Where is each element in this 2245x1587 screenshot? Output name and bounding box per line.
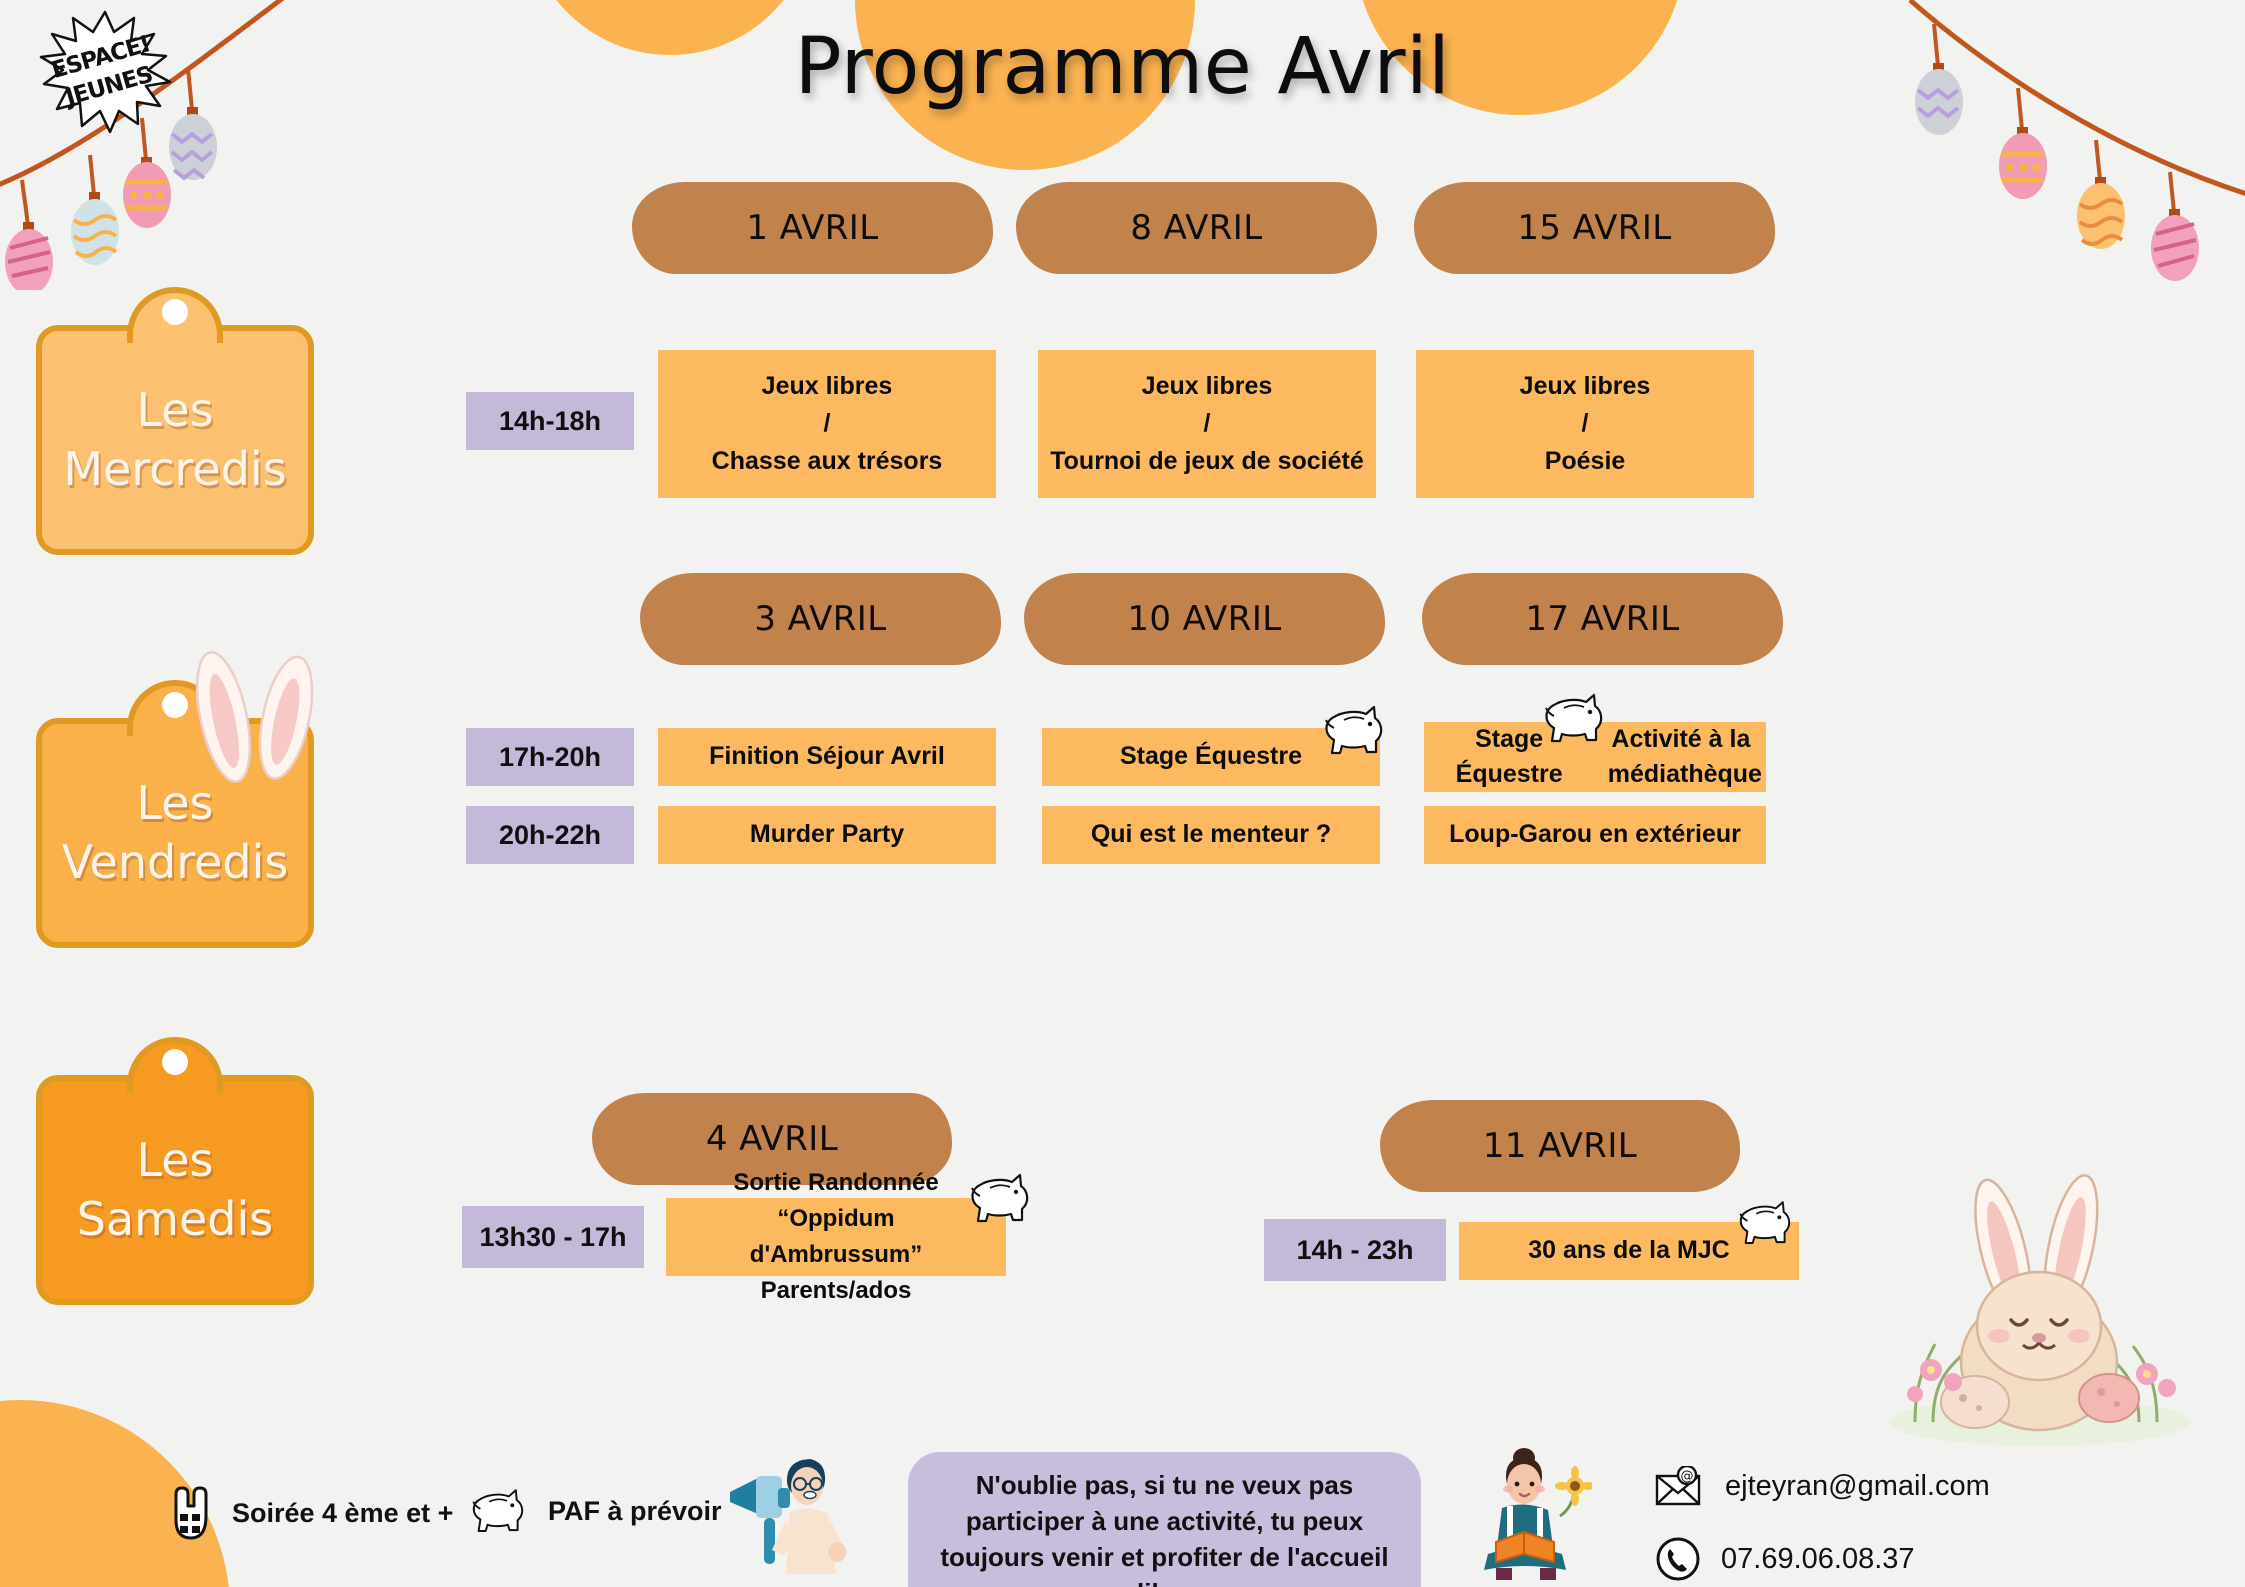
reading-person-illustration-icon xyxy=(1462,1442,1592,1587)
activity-line: Loup-Garou en extérieur xyxy=(1434,816,1756,854)
activity-line: Murder Party xyxy=(668,816,986,854)
piggy-bank-icon xyxy=(1540,688,1610,750)
piggy-bank-icon xyxy=(1320,700,1390,762)
programme-poster: ESPACE! JEUNES Programme Avril Les Mercr… xyxy=(0,0,2245,1587)
bunny-ears-icon xyxy=(178,648,338,788)
day-tag-hole xyxy=(162,1049,188,1075)
contact-email-text: ejteyran@gmail.com xyxy=(1725,1470,1990,1503)
day-label-line2: Vendredis xyxy=(62,835,289,889)
activity-cell-mercredi-8avril[interactable]: Jeux libres / Tournoi de jeux de société xyxy=(1038,350,1376,498)
activity-line: d'Ambrussum” Parents/ados xyxy=(676,1237,996,1309)
date-pill-10-avril[interactable]: 10 AVRIL xyxy=(1024,573,1385,665)
activity-cell-mercredi-15avril[interactable]: Jeux libres / Poésie xyxy=(1416,350,1754,498)
megaphone-person-illustration-icon xyxy=(724,1444,854,1587)
activity-line: Finition Séjour Avril xyxy=(668,738,986,776)
piggy-bank-icon xyxy=(1735,1196,1797,1251)
legend-paf-label: PAF à prévoir xyxy=(548,1496,722,1527)
activity-cell-vendredi-3avril-20h[interactable]: Murder Party xyxy=(658,806,996,864)
activity-cell-vendredi-17avril-20h[interactable]: Loup-Garou en extérieur xyxy=(1424,806,1766,864)
date-pill-17-avril[interactable]: 17 AVRIL xyxy=(1422,573,1783,665)
date-pill-11-avril[interactable]: 11 AVRIL xyxy=(1380,1100,1740,1192)
activity-cell-samedi-4avril[interactable]: Sortie Randonnée “Oppidum d'Ambrussum” P… xyxy=(666,1198,1006,1276)
time-chip-samedi-14h-23h: 14h - 23h xyxy=(1264,1219,1446,1281)
email-icon: @ xyxy=(1655,1466,1705,1506)
rock-hand-icon xyxy=(168,1484,214,1542)
day-tag-samedis: Les Samedis xyxy=(36,1075,314,1305)
legend-paf: PAF à prévoir xyxy=(468,1484,722,1539)
phone-icon xyxy=(1655,1536,1701,1582)
time-chip-vendredis-20h-22h: 20h-22h xyxy=(466,806,634,864)
day-tag-label-vendredis: Les Vendredis xyxy=(50,774,301,892)
day-label-line1: Les xyxy=(136,383,213,437)
activity-line: Jeux libres xyxy=(668,368,986,406)
time-chip-mercredis-14h-18h: 14h-18h xyxy=(466,392,634,450)
contact-phone[interactable]: 07.69.06.08.37 xyxy=(1655,1536,1915,1582)
activity-line: Jeux libres xyxy=(1048,368,1366,406)
page-title: Programme Avril xyxy=(0,22,2245,112)
day-label-line1: Les xyxy=(136,776,213,830)
contact-email[interactable]: @ ejteyran@gmail.com xyxy=(1655,1466,1990,1506)
activity-line: / xyxy=(668,405,986,443)
day-label-line2: Mercredis xyxy=(63,442,286,496)
activity-line: Poésie xyxy=(1426,443,1744,481)
contact-phone-text: 07.69.06.08.37 xyxy=(1721,1543,1915,1576)
activity-line: Jeux libres xyxy=(1426,368,1744,406)
piggy-bank-icon xyxy=(966,1168,1036,1230)
activity-line: Activité à la médiathèque xyxy=(1608,722,1754,793)
legend-soiree: Soirée 4 ème et + xyxy=(168,1484,453,1542)
activity-cell-mercredi-1avril[interactable]: Jeux libres / Chasse aux trésors xyxy=(658,350,996,498)
svg-text:@: @ xyxy=(1681,1469,1694,1484)
activity-line: / xyxy=(1048,405,1366,443)
date-pill-8-avril[interactable]: 8 AVRIL xyxy=(1016,182,1377,274)
activity-line: / xyxy=(1426,405,1744,443)
day-tag-hole xyxy=(162,299,188,325)
date-pill-3-avril[interactable]: 3 AVRIL xyxy=(640,573,1001,665)
activity-line: Tournoi de jeux de société xyxy=(1048,443,1366,481)
day-tag-hole xyxy=(162,692,188,718)
easter-bunny-illustration-icon xyxy=(1875,1130,2205,1450)
day-label-line1: Les xyxy=(136,1133,213,1187)
activity-cell-vendredi-3avril-17h[interactable]: Finition Séjour Avril xyxy=(658,728,996,786)
date-pill-15-avril[interactable]: 15 AVRIL xyxy=(1414,182,1775,274)
time-chip-vendredis-17h-20h: 17h-20h xyxy=(466,728,634,786)
activity-line: Qui est le menteur ? xyxy=(1052,816,1370,854)
piggy-bank-icon xyxy=(468,1484,530,1539)
time-chip-samedi-13h30-17h: 13h30 - 17h xyxy=(462,1206,644,1268)
activity-cell-vendredi-10avril-20h[interactable]: Qui est le menteur ? xyxy=(1042,806,1380,864)
day-tag-label-mercredis: Les Mercredis xyxy=(51,381,298,499)
day-tag-mercredis: Les Mercredis xyxy=(36,325,314,555)
date-pill-1-avril[interactable]: 1 AVRIL xyxy=(632,182,993,274)
activity-line: Sortie Randonnée “Oppidum xyxy=(676,1165,996,1237)
day-label-line2: Samedis xyxy=(77,1192,273,1246)
notice-box: N'oublie pas, si tu ne veux pas particip… xyxy=(908,1452,1421,1587)
activity-line: Chasse aux trésors xyxy=(668,443,986,481)
legend-soiree-label: Soirée 4 ème et + xyxy=(232,1498,453,1529)
day-tag-label-samedis: Les Samedis xyxy=(65,1131,285,1249)
